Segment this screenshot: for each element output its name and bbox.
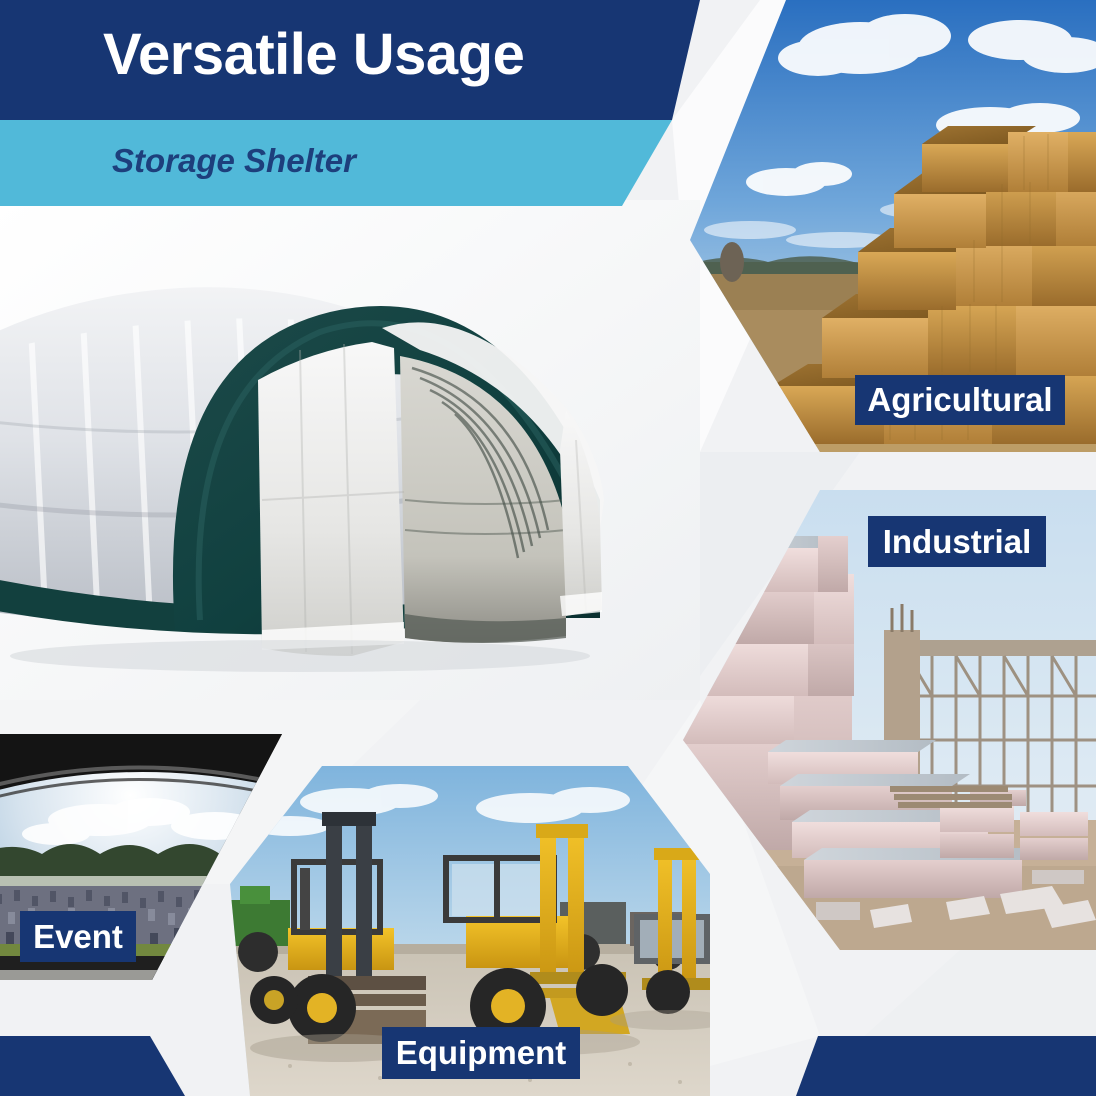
shelter-illustration — [0, 200, 700, 700]
infographic-canvas: Agricultural — [0, 0, 1096, 1096]
caption-equipment: Equipment — [382, 1027, 580, 1079]
bottom-bar-right — [796, 1036, 1096, 1096]
caption-agricultural: Agricultural — [855, 375, 1065, 425]
storage-shelter-image — [0, 200, 700, 700]
page-title: Versatile Usage — [103, 25, 524, 86]
bottom-bar-left — [0, 1036, 185, 1096]
caption-event: Event — [20, 911, 136, 962]
caption-industrial: Industrial — [868, 516, 1046, 567]
page-subtitle: Storage Shelter — [112, 142, 356, 180]
